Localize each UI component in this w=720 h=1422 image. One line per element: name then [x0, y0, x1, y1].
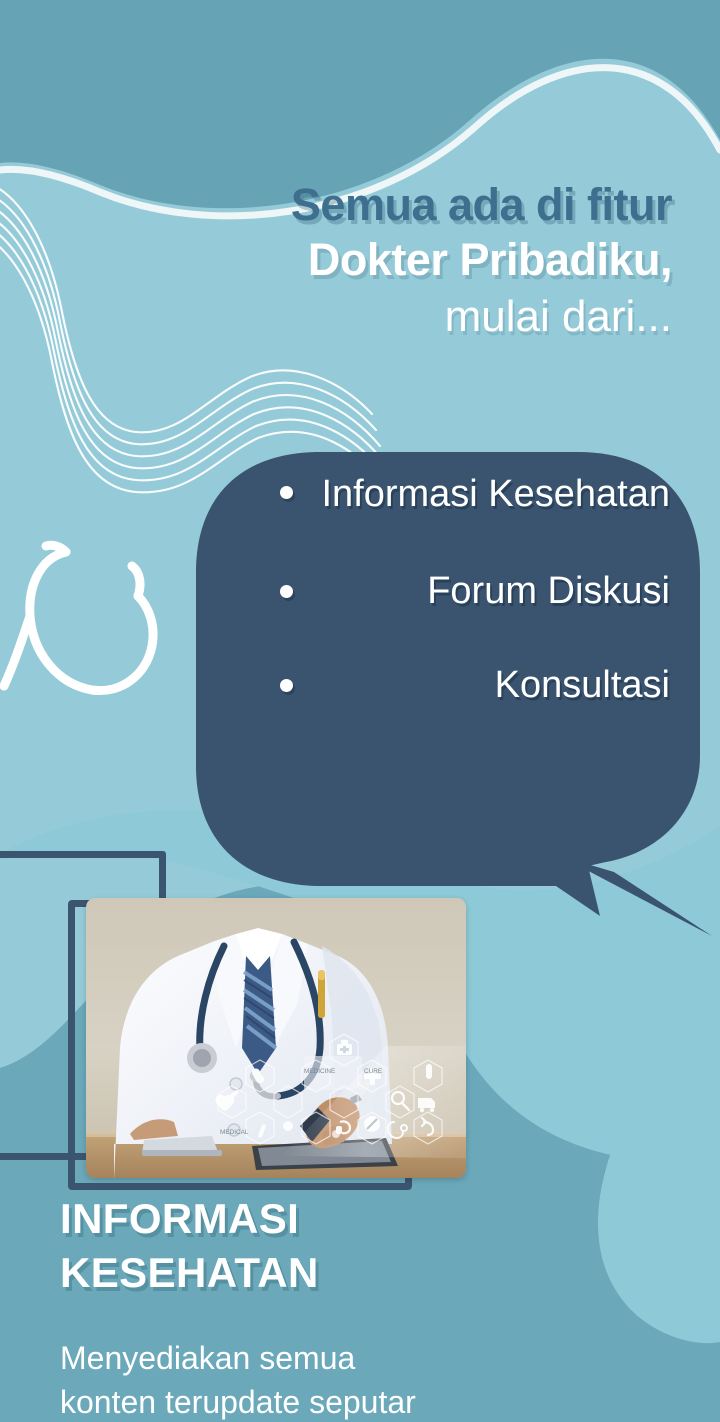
headline-line-3: mulai dari... [0, 288, 672, 345]
list-item-label: Konsultasi [495, 664, 670, 706]
bullet-dot-icon [280, 585, 293, 598]
doctor-photo: MEDICINE CURE MEDICAL [86, 898, 466, 1178]
section-body-line-1: Menyediakan semua [60, 1337, 640, 1381]
hex-label-medicine: MEDICINE [304, 1068, 335, 1075]
doctor-photo-illustration: MEDICINE CURE MEDICAL [86, 898, 466, 1178]
feature-list: Informasi Kesehatan Forum Diskusi Konsul… [250, 470, 670, 736]
headline-line-1: Semua ada di fitur [0, 178, 672, 233]
section-title-line-2: KESEHATAN [60, 1246, 660, 1300]
hex-label-cure: CURE [364, 1068, 382, 1075]
headline-line-2: Dokter Pribadiku, [0, 233, 672, 288]
hex-label-medical: MEDICAL [220, 1129, 249, 1136]
list-item: Informasi Kesehatan [250, 470, 670, 519]
section-title: INFORMASI KESEHATAN [60, 1192, 660, 1300]
list-item-label: Informasi Kesehatan [321, 473, 670, 515]
section-body: Menyediakan semua konten terupdate seput… [60, 1337, 640, 1422]
poster-canvas: Semua ada di fitur Dokter Pribadiku, mul… [0, 0, 720, 1422]
list-item: Forum Diskusi [250, 567, 670, 616]
bullet-dot-icon [280, 486, 293, 499]
section-body-line-2: konten terupdate seputar [60, 1381, 640, 1422]
section-title-line-1: INFORMASI [60, 1192, 660, 1246]
list-item-label: Forum Diskusi [427, 570, 670, 612]
bullet-dot-icon [280, 679, 293, 692]
list-item: Konsultasi [250, 661, 670, 710]
headline-block: Semua ada di fitur Dokter Pribadiku, mul… [0, 178, 672, 345]
